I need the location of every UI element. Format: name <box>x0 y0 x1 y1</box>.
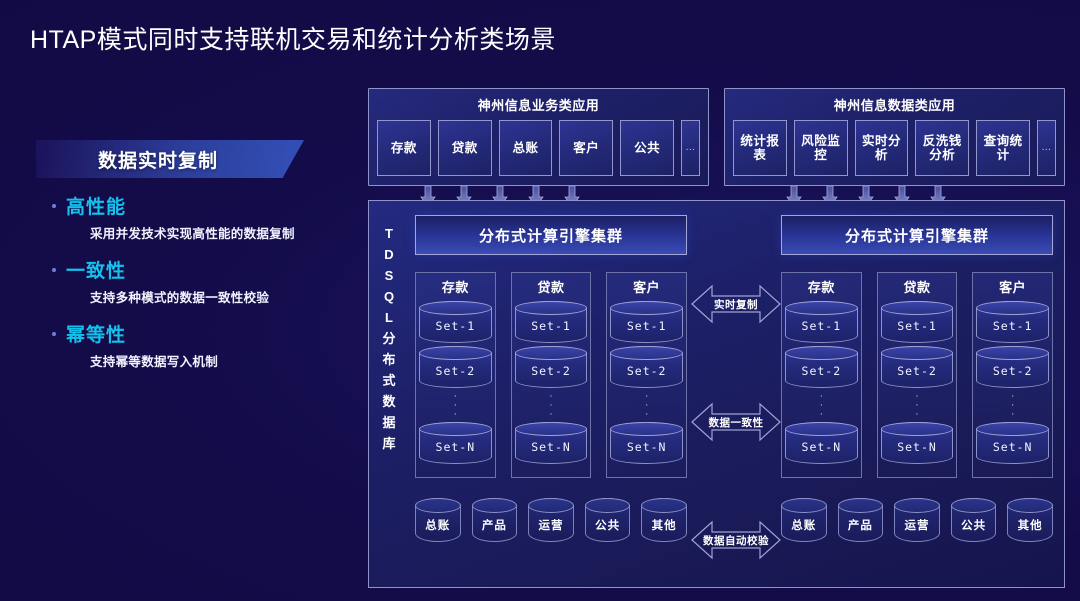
tdsql-label-char: Q <box>377 286 401 307</box>
database-row: 总账 产品 运营 公共 其他 <box>781 498 1053 542</box>
ribbon-label: 数据实时复制 <box>36 146 218 173</box>
database-label: 其他 <box>1018 517 1043 533</box>
tdsql-label-char: 据 <box>377 412 401 433</box>
set-node: Set-2 <box>976 346 1049 388</box>
set-node: Set-1 <box>515 301 588 343</box>
set-node: Set-2 <box>419 346 492 388</box>
set-node-label: Set-N <box>627 440 667 454</box>
database-node: 公共 <box>585 498 631 542</box>
app-chip-more[interactable]: … <box>1037 120 1056 176</box>
sync-arrow-group: 实时复制 数据一致性 数据自动校验 <box>690 281 782 571</box>
feature-title: 一致性 <box>66 256 126 283</box>
set-node-label: Set-2 <box>531 364 571 378</box>
set-node: Set-1 <box>881 301 954 343</box>
database-label: 运营 <box>538 517 563 533</box>
app-chip[interactable]: 实时分析 <box>855 120 909 176</box>
set-node-label: Set-1 <box>627 319 667 333</box>
set-column: 客户 Set-1 Set-2 ··· Set-N <box>606 272 687 478</box>
feature-title: 幂等性 <box>66 320 126 347</box>
app-group-title: 神州信息数据类应用 <box>733 95 1056 114</box>
set-column-title: 贷款 <box>904 277 931 296</box>
set-column: 贷款 Set-1 Set-2 ··· Set-N <box>511 272 592 478</box>
application-layer: 神州信息业务类应用 存款 贷款 总账 客户 公共 … 神州信息数据类应用 统计报… <box>368 88 1065 186</box>
set-node: Set-N <box>785 422 858 464</box>
set-node: Set-1 <box>610 301 683 343</box>
database-label: 其他 <box>652 517 677 533</box>
set-column: 存款 Set-1 Set-2 ··· Set-N <box>415 272 496 478</box>
set-node-label: Set-1 <box>802 319 842 333</box>
bullet-dot-icon <box>52 204 56 208</box>
database-label: 总账 <box>425 517 450 533</box>
database-node: 产品 <box>472 498 518 542</box>
database-node: 运营 <box>894 498 940 542</box>
ellipsis-vertical-icon: ··· <box>820 392 824 418</box>
set-column-title: 贷款 <box>538 277 565 296</box>
database-node: 其他 <box>641 498 687 542</box>
ellipsis-vertical-icon: ··· <box>549 392 553 418</box>
database-node: 产品 <box>838 498 884 542</box>
architecture-diagram: 神州信息业务类应用 存款 贷款 总账 客户 公共 … 神州信息数据类应用 统计报… <box>368 88 1065 588</box>
feature-item: 一致性 支持多种模式的数据一致性校验 <box>38 256 354 306</box>
database-label: 公共 <box>961 517 986 533</box>
set-column-title: 客户 <box>999 277 1026 296</box>
database-label: 产品 <box>482 517 507 533</box>
cluster-right: 分布式计算引擎集群 存款 Set-1 Set-2 ··· Set-N 贷款 Se… <box>781 215 1053 575</box>
section-ribbon: 数据实时复制 <box>36 140 304 178</box>
tdsql-label-char: 布 <box>377 349 401 370</box>
app-chip[interactable]: 客户 <box>559 120 613 176</box>
ellipsis-vertical-icon: ··· <box>915 392 919 418</box>
set-node-label: Set-1 <box>993 319 1033 333</box>
app-chip[interactable]: 反洗钱分析 <box>915 120 969 176</box>
database-node: 公共 <box>951 498 997 542</box>
app-chip[interactable]: 统计报表 <box>733 120 787 176</box>
ellipsis-vertical-icon: ··· <box>1011 392 1015 418</box>
database-label: 运营 <box>904 517 929 533</box>
database-node: 其他 <box>1007 498 1053 542</box>
set-node: Set-2 <box>881 346 954 388</box>
set-node: Set-1 <box>976 301 1049 343</box>
set-column-title: 存款 <box>808 277 835 296</box>
tdsql-label-char: T <box>377 223 401 244</box>
set-node-label: Set-1 <box>436 319 476 333</box>
tdsql-label-char: 库 <box>377 433 401 454</box>
set-node: Set-N <box>976 422 1049 464</box>
sync-arrow-label: 数据一致性 <box>690 399 782 445</box>
set-node-label: Set-2 <box>802 364 842 378</box>
page-title: HTAP模式同时支持联机交易和统计分析类场景 <box>30 20 556 56</box>
set-column: 贷款 Set-1 Set-2 ··· Set-N <box>877 272 958 478</box>
app-chip[interactable]: 贷款 <box>438 120 492 176</box>
app-chip[interactable]: 查询统计 <box>976 120 1030 176</box>
bullet-dot-icon <box>52 268 56 272</box>
set-column-title: 存款 <box>442 277 469 296</box>
sync-arrow: 数据自动校验 <box>690 517 782 563</box>
tdsql-label-char: D <box>377 244 401 265</box>
database-node: 运营 <box>528 498 574 542</box>
app-group-data: 神州信息数据类应用 统计报表 风险监控 实时分析 反洗钱分析 查询统计 … <box>724 88 1065 186</box>
bullet-dot-icon <box>52 332 56 336</box>
feature-desc: 采用并发技术实现高性能的数据复制 <box>90 223 354 242</box>
set-node: Set-1 <box>419 301 492 343</box>
set-node-label: Set-2 <box>436 364 476 378</box>
set-node-label: Set-2 <box>897 364 937 378</box>
set-node: Set-N <box>610 422 683 464</box>
feature-title: 高性能 <box>66 192 126 219</box>
set-node-label: Set-N <box>897 440 937 454</box>
set-node-label: Set-N <box>436 440 476 454</box>
app-chip[interactable]: 总账 <box>499 120 553 176</box>
tdsql-label-char: 数 <box>377 391 401 412</box>
cluster-left: 分布式计算引擎集群 存款 Set-1 Set-2 ··· Set-N 贷款 Se… <box>415 215 687 575</box>
feature-desc: 支持多种模式的数据一致性校验 <box>90 287 354 306</box>
set-node: Set-2 <box>785 346 858 388</box>
compute-engine-cluster: 分布式计算引擎集群 <box>781 215 1053 255</box>
tdsql-label-char: 分 <box>377 328 401 349</box>
ellipsis-vertical-icon: ··· <box>454 392 458 418</box>
tdsql-vertical-label: TDSQL分布式数据库 <box>377 223 401 455</box>
set-node: Set-N <box>419 422 492 464</box>
set-node: Set-N <box>515 422 588 464</box>
app-chip-more[interactable]: … <box>681 120 700 176</box>
set-node-label: Set-1 <box>897 319 937 333</box>
set-node-label: Set-N <box>531 440 571 454</box>
ellipsis-vertical-icon: ··· <box>645 392 649 418</box>
feature-desc: 支持幂等数据写入机制 <box>90 351 354 370</box>
set-node: Set-N <box>881 422 954 464</box>
set-node-label: Set-N <box>802 440 842 454</box>
feature-item: 幂等性 支持幂等数据写入机制 <box>38 320 354 370</box>
left-panel: 数据实时复制 高性能 采用并发技术实现高性能的数据复制 一致性 支持多种模式的数… <box>24 140 354 370</box>
set-node-label: Set-2 <box>993 364 1033 378</box>
tdsql-label-char: S <box>377 265 401 286</box>
app-chip[interactable]: 风险监控 <box>794 120 848 176</box>
database-label: 公共 <box>595 517 620 533</box>
database-node: 总账 <box>781 498 827 542</box>
database-label: 总账 <box>791 517 816 533</box>
app-group-title: 神州信息业务类应用 <box>377 95 700 114</box>
sync-arrow-label: 数据自动校验 <box>690 517 782 563</box>
set-column-title: 客户 <box>633 277 660 296</box>
app-chip[interactable]: 公共 <box>620 120 674 176</box>
sync-arrow-label: 实时复制 <box>690 281 782 327</box>
database-row: 总账 产品 运营 公共 其他 <box>415 498 687 542</box>
set-node-label: Set-2 <box>627 364 667 378</box>
tdsql-label-char: L <box>377 307 401 328</box>
feature-item: 高性能 采用并发技术实现高性能的数据复制 <box>38 192 354 242</box>
tdsql-label-char: 式 <box>377 370 401 391</box>
database-node: 总账 <box>415 498 461 542</box>
database-label: 产品 <box>848 517 873 533</box>
app-chip[interactable]: 存款 <box>377 120 431 176</box>
set-column: 存款 Set-1 Set-2 ··· Set-N <box>781 272 862 478</box>
tdsql-panel: TDSQL分布式数据库 分布式计算引擎集群 存款 Set-1 Set-2 ···… <box>368 200 1065 588</box>
set-node: Set-2 <box>610 346 683 388</box>
set-node: Set-2 <box>515 346 588 388</box>
compute-engine-cluster: 分布式计算引擎集群 <box>415 215 687 255</box>
set-node-label: Set-N <box>993 440 1033 454</box>
set-column: 客户 Set-1 Set-2 ··· Set-N <box>972 272 1053 478</box>
slide-root: HTAP模式同时支持联机交易和统计分析类场景 数据实时复制 高性能 采用并发技术… <box>0 0 1080 601</box>
app-group-business: 神州信息业务类应用 存款 贷款 总账 客户 公共 … <box>368 88 709 186</box>
set-node-label: Set-1 <box>531 319 571 333</box>
sync-arrow: 实时复制 <box>690 281 782 327</box>
sync-arrow: 数据一致性 <box>690 399 782 445</box>
set-node: Set-1 <box>785 301 858 343</box>
